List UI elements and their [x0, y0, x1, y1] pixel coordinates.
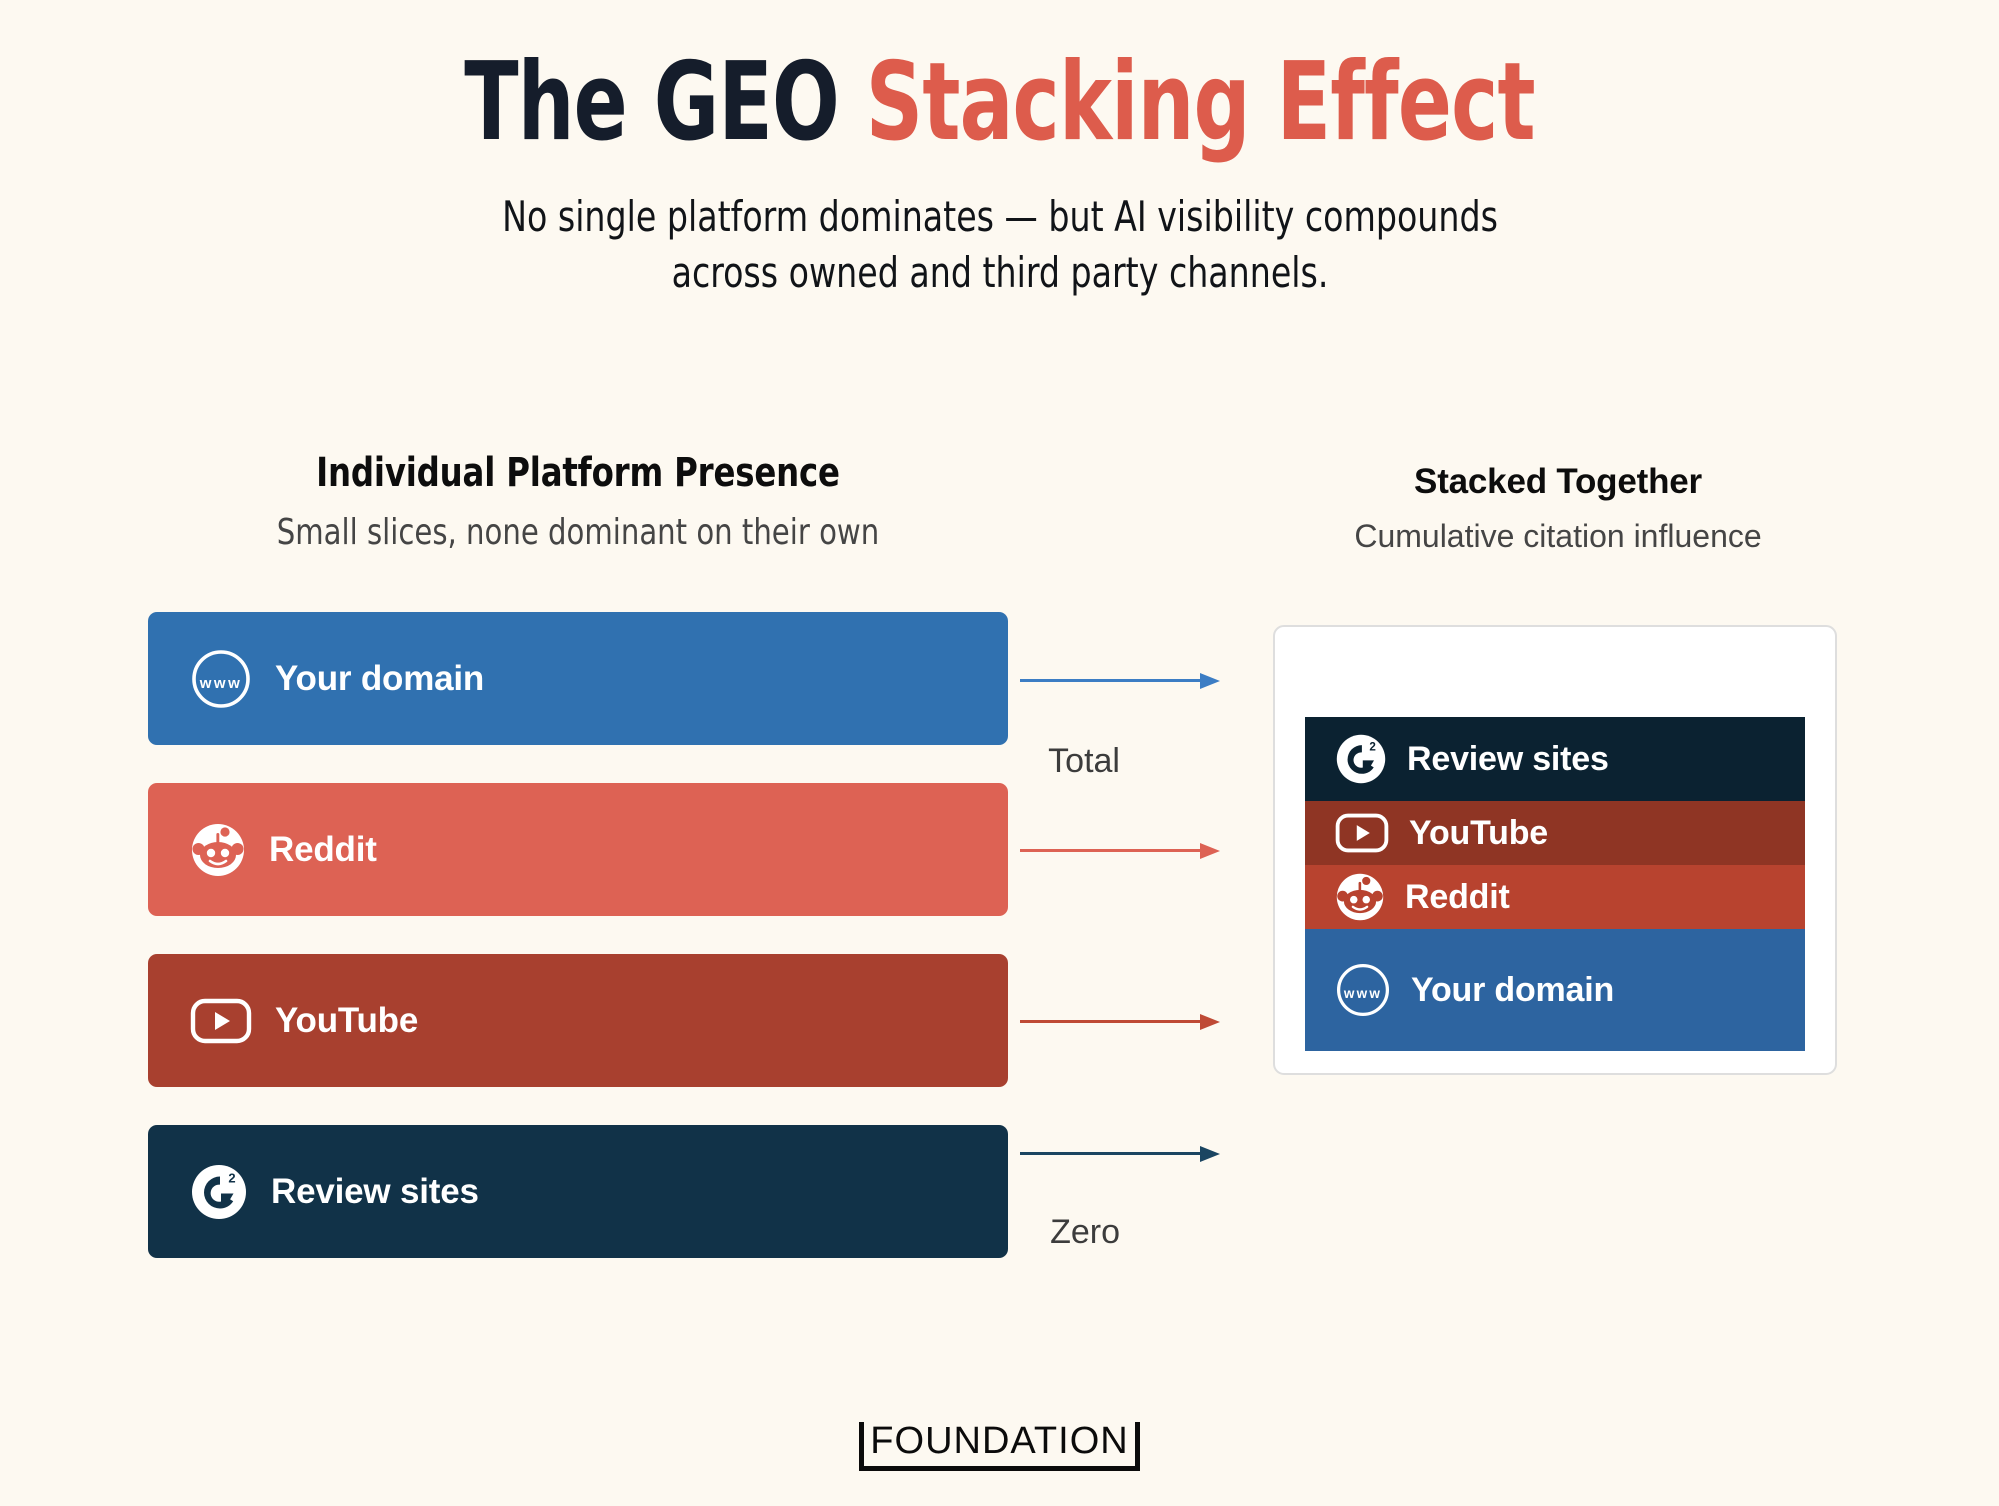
g2-icon: 2 — [1335, 733, 1387, 785]
platform-bar-label: Reddit — [269, 830, 377, 870]
platform-bar-your-domain[interactable]: www Your domain — [148, 612, 1008, 745]
page-subtitle: No single platform dominates — but AI vi… — [401, 189, 1598, 301]
arrow-line — [1020, 679, 1202, 682]
svg-text:2: 2 — [1369, 740, 1376, 753]
diagram-body: Individual Platform Presence Small slice… — [0, 430, 1999, 1310]
platform-bar-label: Review sites — [271, 1172, 479, 1212]
stack-segment-review-sites[interactable]: 2 Review sites — [1305, 717, 1805, 801]
right-column-heading: Stacked Together Cumulative citation inf… — [1273, 462, 1843, 555]
platform-bar-label: Your domain — [275, 659, 484, 699]
arrow-line — [1020, 1152, 1202, 1155]
platform-bar-review-sites[interactable]: 2 Review sites — [148, 1125, 1008, 1258]
arrow-head — [1200, 1146, 1220, 1162]
page-title: The GEO Stacking Effect — [180, 44, 1819, 163]
youtube-icon — [190, 997, 252, 1045]
arrow-head — [1200, 673, 1220, 689]
annotation-zero: Zero — [910, 1213, 1120, 1252]
svg-text:2: 2 — [228, 1170, 235, 1185]
www-globe-icon: www — [190, 648, 252, 710]
right-column-title: Stacked Together — [1273, 462, 1843, 502]
page-title-primary: The GEO — [464, 40, 866, 165]
arrow-head — [1200, 1014, 1220, 1030]
stack-segment-label: Your domain — [1411, 971, 1614, 1010]
page-subtitle-line-1: No single platform dominates — but AI vi… — [401, 189, 1598, 245]
reddit-icon — [190, 822, 246, 878]
arrow-your-domain — [1020, 670, 1230, 690]
stack-segment-your-domain[interactable]: www Your domain — [1305, 929, 1805, 1051]
g2-icon: 2 — [190, 1163, 248, 1221]
header: The GEO Stacking Effect No single platfo… — [0, 0, 1999, 301]
arrow-review-sites — [1020, 1143, 1230, 1163]
annotation-total: Total — [910, 742, 1120, 781]
page-subtitle-line-2: across owned and third party channels. — [401, 245, 1598, 301]
platform-bar-list: www Your domain — [148, 612, 1008, 1258]
arrow-line — [1020, 1020, 1202, 1023]
stack-segment-reddit[interactable]: Reddit — [1305, 865, 1805, 929]
arrow-reddit — [1020, 840, 1230, 860]
left-column-heading: Individual Platform Presence Small slice… — [148, 450, 1008, 553]
arrow-head — [1200, 843, 1220, 859]
youtube-icon — [1335, 812, 1389, 854]
left-column-title: Individual Platform Presence — [191, 450, 965, 496]
stacked-panel: 2 Review sites YouTube — [1273, 625, 1837, 1075]
footer: FOUNDATION — [0, 1422, 1999, 1471]
left-column-subtitle: Small slices, none dominant on their own — [191, 512, 965, 553]
www-globe-icon: www — [1335, 962, 1391, 1018]
stack-segment-label: Reddit — [1405, 878, 1510, 917]
arrow-youtube — [1020, 1011, 1230, 1031]
reddit-icon — [1335, 872, 1385, 922]
connector-arrows: Total Zero — [1020, 612, 1260, 1212]
stack-segment-label: Review sites — [1407, 740, 1609, 779]
svg-text:www: www — [199, 675, 243, 692]
svg-text:www: www — [1343, 986, 1382, 1001]
platform-bar-reddit[interactable]: Reddit — [148, 783, 1008, 916]
platform-bar-youtube[interactable]: YouTube — [148, 954, 1008, 1087]
platform-bar-label: YouTube — [275, 1001, 418, 1041]
stack-segment-label: YouTube — [1409, 814, 1548, 853]
foundation-logo: FOUNDATION — [859, 1422, 1139, 1471]
arrow-line — [1020, 849, 1202, 852]
right-column-subtitle: Cumulative citation influence — [1273, 518, 1843, 555]
stack-segment-youtube[interactable]: YouTube — [1305, 801, 1805, 865]
page-title-accent: Stacking Effect — [866, 40, 1535, 165]
